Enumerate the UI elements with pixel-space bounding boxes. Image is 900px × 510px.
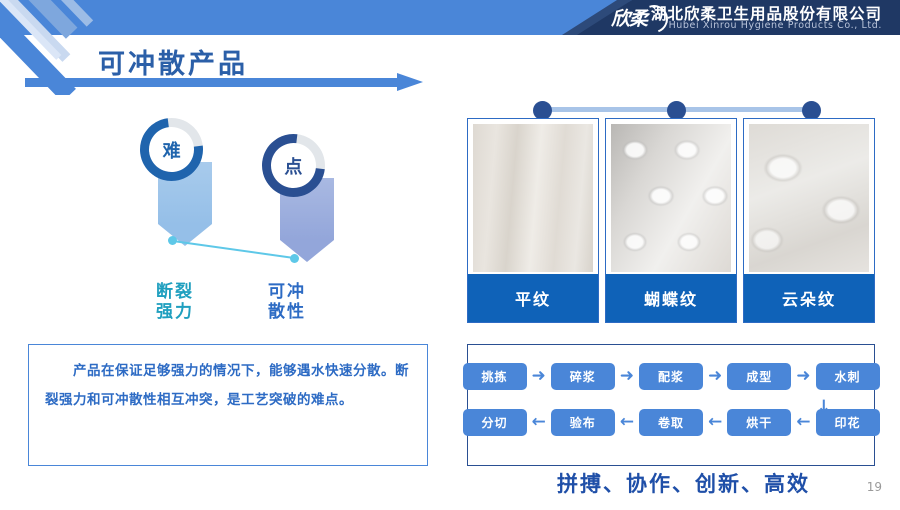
badge-connector-line — [168, 236, 298, 260]
page-number: 19 — [867, 480, 882, 494]
process-step: 卷取 — [639, 409, 703, 436]
product-image — [611, 124, 731, 272]
arrow-right-icon: ➜ — [532, 368, 546, 385]
process-step: 挑拣 — [463, 363, 527, 390]
product-card-cloud[interactable]: 云朵纹 — [743, 118, 875, 323]
process-flow-panel: 挑拣 ➜ 碎浆 ➜ 配浆 ➜ 成型 ➜ 水刺 ↓ 分切 ← 验布 ← 卷取 ← … — [467, 344, 875, 466]
product-card-plain[interactable]: 平纹 — [467, 118, 599, 323]
arrow-left-icon: ← — [796, 414, 810, 431]
arrow-left-icon: ← — [532, 414, 546, 431]
connector-dot — [168, 236, 177, 245]
process-step: 成型 — [727, 363, 791, 390]
product-image — [473, 124, 593, 272]
company-name-en: Hubei Xinrou Hygiene Products Co., Ltd. — [669, 20, 882, 31]
process-step: 碎浆 — [551, 363, 615, 390]
product-name: 蝴蝶纹 — [644, 286, 698, 310]
process-step: 配浆 — [639, 363, 703, 390]
title-arrow-icon — [25, 73, 425, 91]
connector-dot — [290, 254, 299, 263]
label-tensile-strength: 断裂强力 — [140, 282, 210, 322]
arrow-right-icon: ➜ — [620, 368, 634, 385]
footer-slogan: 拼搏、协作、创新、高效 — [557, 468, 810, 498]
product-name: 云朵纹 — [782, 286, 836, 310]
label-dispersibility: 可冲散性 — [252, 282, 322, 322]
product-image — [749, 124, 869, 272]
arrow-right-icon: ➜ — [708, 368, 722, 385]
process-step: 烘干 — [727, 409, 791, 436]
process-flow-row-1: 挑拣 ➜ 碎浆 ➜ 配浆 ➜ 成型 ➜ 水刺 — [482, 361, 860, 391]
product-card-footer: 平纹 — [468, 274, 598, 322]
product-card-footer: 云朵纹 — [744, 274, 874, 322]
process-flow-row-2: 分切 ← 验布 ← 卷取 ← 烘干 ← 印花 — [482, 407, 860, 437]
process-step: 水刺 — [816, 363, 880, 390]
arrow-left-icon: ← — [708, 414, 722, 431]
badge-char: 难 — [163, 137, 181, 163]
description-text: 产品在保证足够强力的情况下，能够遇水快速分散。断裂强力和可冲散性相互冲突，是工艺… — [45, 357, 411, 415]
process-step: 验布 — [551, 409, 615, 436]
badge-char: 点 — [285, 153, 303, 179]
process-step: 分切 — [463, 409, 527, 436]
description-box: 产品在保证足够强力的情况下，能够遇水快速分散。断裂强力和可冲散性相互冲突，是工艺… — [28, 344, 428, 466]
arrow-down-icon: ↓ — [817, 397, 831, 417]
product-name: 平纹 — [515, 286, 551, 310]
product-card-footer: 蝴蝶纹 — [606, 274, 736, 322]
arrow-right-icon: ➜ — [796, 368, 810, 385]
arrow-left-icon: ← — [620, 414, 634, 431]
product-card-butterfly[interactable]: 蝴蝶纹 — [605, 118, 737, 323]
cards-connector — [533, 101, 821, 119]
